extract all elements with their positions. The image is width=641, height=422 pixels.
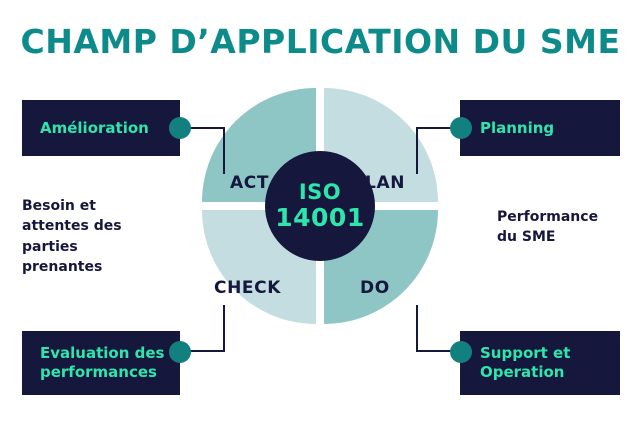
label-box-amelioration[interactable]: Amélioration — [22, 100, 180, 156]
page-title: CHAMP D’APPLICATION DU SME — [0, 22, 641, 61]
label-box-evaluation[interactable]: Evaluation des performances — [22, 331, 180, 395]
connector-dot-evaluation — [169, 341, 191, 363]
infographic-canvas: CHAMP D’APPLICATION DU SME ACT PLAN CHEC… — [0, 0, 641, 422]
quadrant-label-act: ACT — [230, 173, 269, 193]
note-output-performance: Performance du SME — [497, 207, 627, 248]
label-box-support-text: Support et Operation — [480, 344, 570, 382]
quadrant-label-do: DO — [360, 278, 390, 298]
label-box-planning-text: Planning — [480, 119, 554, 138]
connector-evaluation-horizontal — [186, 350, 225, 352]
label-box-planning[interactable]: Planning — [460, 100, 620, 156]
iso-hub: ISO 14001 — [265, 151, 375, 261]
connector-planning-vertical — [416, 127, 418, 174]
connector-dot-support — [450, 341, 472, 363]
pdca-wheel: ACT PLAN CHECK DO ISO 14001 — [202, 88, 438, 324]
connector-evaluation-vertical — [223, 305, 225, 352]
connector-amelioration-vertical — [223, 127, 225, 174]
label-box-evaluation-text: Evaluation des performances — [40, 344, 164, 382]
label-box-amelioration-text: Amélioration — [40, 119, 149, 138]
label-box-support[interactable]: Support et Operation — [460, 331, 620, 395]
quadrant-label-check: CHECK — [214, 278, 281, 298]
hub-standard-name: ISO — [299, 182, 341, 203]
connector-amelioration-horizontal — [186, 127, 225, 129]
connector-dot-amelioration — [169, 117, 191, 139]
hub-standard-number: 14001 — [275, 205, 364, 230]
note-input-stakeholders: Besoin et attentes des parties prenantes — [22, 196, 172, 277]
connector-support-vertical — [416, 305, 418, 352]
connector-dot-planning — [450, 117, 472, 139]
